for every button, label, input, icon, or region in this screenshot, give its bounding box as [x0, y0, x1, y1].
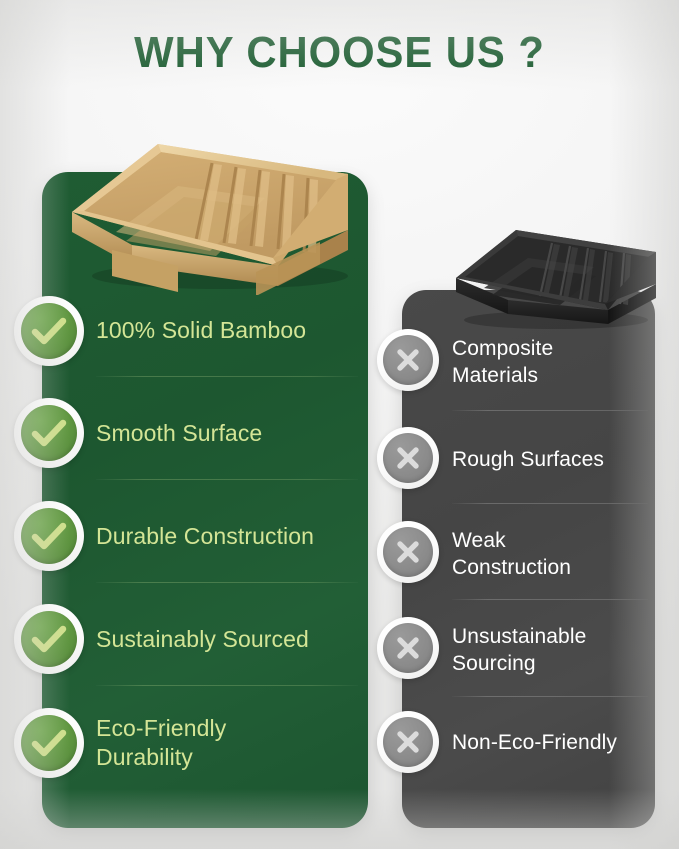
pros-divider-1 — [96, 376, 358, 377]
x-glyph — [377, 521, 439, 583]
cons-row-1-label: Composite Materials — [452, 335, 553, 389]
cons-row-3: Weak Construction — [452, 524, 652, 584]
check-glyph — [14, 708, 84, 778]
bamboo-tray-image — [60, 100, 360, 295]
cons-row-5-label: Non-Eco-Friendly — [452, 729, 617, 756]
pros-row-1-label: 100% Solid Bamboo — [96, 316, 306, 345]
x-icon-5 — [377, 711, 439, 773]
page-title: WHY CHOOSE US ? — [17, 25, 662, 81]
comparison-infographic: WHY CHOOSE US ? — [0, 0, 679, 849]
cons-divider-4 — [452, 696, 648, 697]
cons-row-2: Rough Surfaces — [452, 436, 652, 482]
pros-row-4-label: Sustainably Sourced — [96, 625, 309, 654]
x-glyph — [377, 617, 439, 679]
check-glyph — [14, 604, 84, 674]
x-icon-4 — [377, 617, 439, 679]
check-icon-1 — [14, 296, 84, 366]
pros-row-1: 100% Solid Bamboo — [96, 304, 358, 356]
pros-row-3-label: Durable Construction — [96, 522, 314, 551]
pros-row-2-label: Smooth Surface — [96, 419, 262, 448]
x-glyph — [377, 329, 439, 391]
x-icon-1 — [377, 329, 439, 391]
cons-row-3-label: Weak Construction — [452, 527, 571, 581]
check-glyph — [14, 501, 84, 571]
x-icon-2 — [377, 427, 439, 489]
pros-row-2: Smooth Surface — [96, 407, 358, 459]
check-glyph — [14, 398, 84, 468]
pros-row-4: Sustainably Sourced — [96, 613, 361, 665]
check-icon-5 — [14, 708, 84, 778]
pros-row-5: Eco-Friendly Durability — [96, 703, 358, 783]
pros-row-5-label: Eco-Friendly Durability — [96, 714, 226, 772]
cons-row-1: Composite Materials — [452, 332, 652, 392]
check-glyph — [14, 296, 84, 366]
plastic-tray-image — [448, 216, 663, 331]
check-icon-3 — [14, 501, 84, 571]
cons-row-4: Unsustainable Sourcing — [452, 620, 657, 680]
cons-row-5: Non-Eco-Friendly — [452, 719, 662, 765]
pros-divider-3 — [96, 582, 358, 583]
x-glyph — [377, 427, 439, 489]
x-glyph — [377, 711, 439, 773]
cons-divider-3 — [452, 599, 648, 600]
pros-row-3: Durable Construction — [96, 510, 361, 562]
pros-divider-2 — [96, 479, 358, 480]
cons-row-4-label: Unsustainable Sourcing — [452, 623, 586, 677]
x-icon-3 — [377, 521, 439, 583]
check-icon-4 — [14, 604, 84, 674]
cons-row-2-label: Rough Surfaces — [452, 446, 604, 473]
cons-divider-2 — [452, 503, 648, 504]
check-icon-2 — [14, 398, 84, 468]
pros-divider-4 — [96, 685, 358, 686]
cons-divider-1 — [452, 410, 648, 411]
